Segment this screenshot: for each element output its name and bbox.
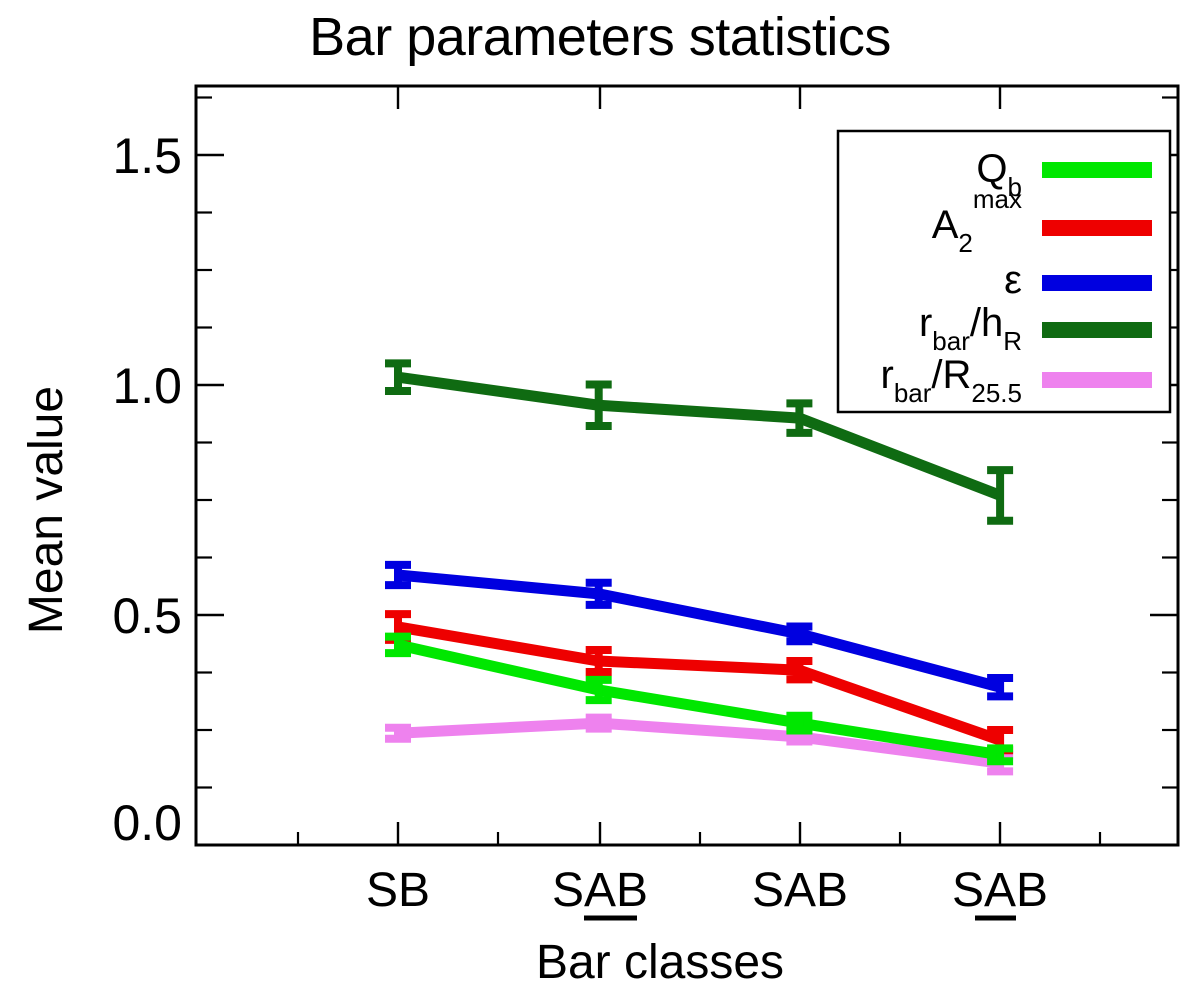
series-epsilon [385,565,1013,697]
legend: Qb A2max ε rbar/hR rbar/R25.5 [838,131,1170,412]
x-tick-label: SAB [552,864,648,917]
chart-figure: Bar parameters statistics Mean value Bar… [0,0,1200,997]
x-tick-label: SAB [752,864,848,917]
x-tick-labels: SB SAB SAB SAB [366,864,1048,918]
chart-title: Bar parameters statistics [309,7,891,67]
series-line [398,627,1000,740]
y-tick-label: 0.5 [112,588,182,644]
y-axis-title: Mean value [20,386,73,634]
y-tick-label: 1.0 [112,358,182,414]
x-tick-label: SAB [952,864,1048,917]
legend-label-epsilon: ε [1004,258,1022,302]
y-tick-label: 1.5 [112,128,182,184]
y-tick-label: 0.0 [112,795,182,851]
x-tick-label: SB [366,864,430,917]
x-axis-title: Bar classes [536,936,784,989]
series-layer [385,363,1013,771]
chart-svg: Bar parameters statistics Mean value Bar… [0,0,1200,997]
series-q-b [385,637,1013,762]
y-tick-labels: 1.5 1.0 0.5 0.0 [112,128,182,851]
